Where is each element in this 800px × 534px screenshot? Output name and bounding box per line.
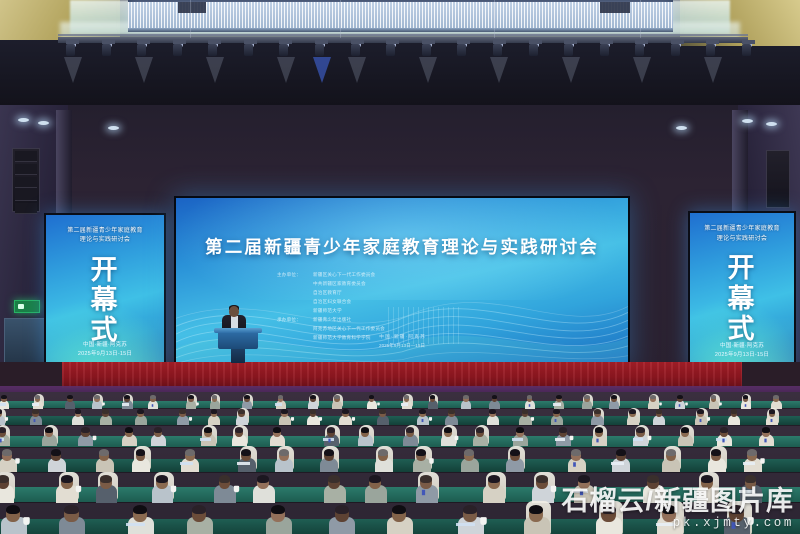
audience-hair [125, 427, 133, 433]
moving-head-light [279, 40, 292, 47]
audience-hair [611, 395, 617, 399]
audience-hair [241, 449, 251, 456]
audience-hair [769, 409, 776, 414]
audience-hair [378, 449, 388, 456]
audience-hair [279, 449, 289, 456]
audience-hair [102, 409, 109, 414]
name-badge [679, 404, 681, 407]
organizer-item: 中共新疆区家教育委员会 [313, 281, 366, 286]
audience-hair [595, 427, 603, 433]
audience-hair [616, 449, 626, 456]
water-cup [760, 458, 765, 463]
name-badge [329, 438, 331, 442]
water-cup [377, 402, 380, 405]
name-badge [555, 419, 557, 422]
audience-hair [594, 409, 601, 414]
organizer-item: 自治区妇女联合会 [313, 299, 351, 304]
document-paper [739, 490, 754, 493]
name-badge [722, 438, 724, 442]
side-banner-right: 第二届新疆青少年家庭教育 理论与实践研讨会 开 幕 式 中国·新疆·阿克苏 20… [688, 211, 796, 370]
audience-hair [211, 409, 218, 414]
name-badge [744, 404, 746, 407]
co-organizer-item: 新疆青少年出版社 [313, 317, 351, 322]
side-banner-right-footer: 中国·新疆·阿克苏 2025年9月13日-15日 [690, 342, 794, 361]
document-paper [633, 438, 644, 441]
audience-hair [697, 409, 704, 414]
audience-hair [522, 409, 529, 414]
audience-hair [75, 409, 82, 414]
audience-hair [99, 449, 109, 456]
name-badge [573, 462, 576, 467]
audience-hair [192, 505, 206, 515]
light-beam [419, 57, 437, 83]
audience-hair [244, 395, 250, 399]
light-beam [562, 57, 580, 83]
water-cup [707, 417, 710, 421]
moving-head-light [671, 40, 684, 47]
water-cup [719, 402, 722, 405]
moving-head-light [564, 40, 577, 47]
audience-hair [745, 475, 757, 483]
audience-hair [444, 427, 452, 433]
document-paper [456, 523, 474, 526]
audience-hair [32, 409, 39, 414]
chandelier-bottom-rail [128, 28, 673, 32]
audience-hair [647, 475, 659, 483]
audience-hair [61, 475, 73, 483]
moving-head-light [66, 40, 79, 47]
water-cup [15, 458, 20, 463]
audience-hair [179, 409, 186, 414]
water-cup [429, 458, 434, 463]
water-cup [5, 417, 8, 421]
audience-hair [154, 427, 162, 433]
document-paper [237, 462, 250, 465]
ceiling [0, 0, 800, 112]
name-badge [152, 404, 154, 407]
name-badge [580, 490, 583, 495]
audience-hair [489, 409, 496, 414]
name-badge [421, 419, 423, 422]
audience-hair [133, 505, 147, 515]
audience-hair [488, 475, 500, 483]
downlight [676, 126, 687, 130]
audience-hair [773, 395, 779, 399]
water-cup [648, 436, 652, 441]
moving-head-light [600, 40, 613, 47]
audience-hair [681, 427, 689, 433]
audience-hair [666, 449, 676, 456]
audience-hair [559, 427, 567, 433]
side-banner-left-footer: 中国·新疆·阿克苏 2025年9月13日-15日 [46, 341, 164, 360]
water-cup [570, 436, 574, 441]
audience-hair [0, 427, 6, 433]
audience-hair [137, 409, 144, 414]
audience-hair [406, 427, 414, 433]
document-paper [200, 438, 211, 441]
audience-hair [235, 427, 243, 433]
moving-head-light [742, 40, 755, 47]
audience-hair [150, 395, 156, 399]
side-banner-left-title: 第二届新疆青少年家庭教育 理论与实践研讨会 [46, 227, 164, 246]
moving-head-light [315, 40, 328, 47]
audience-hair [711, 449, 721, 456]
light-beam [348, 57, 366, 83]
audience-hair [701, 475, 713, 483]
audience-hair [416, 449, 426, 456]
downlight [38, 121, 49, 125]
audience-hair [281, 409, 288, 414]
audience-hair [556, 395, 562, 399]
audience-hair [584, 395, 590, 399]
water-cup [429, 417, 432, 421]
water-cup [685, 402, 688, 405]
audience-hair [219, 475, 231, 483]
audience-hair [328, 475, 340, 483]
moving-head-light [386, 40, 399, 47]
document-paper [656, 523, 674, 526]
audience-hair [720, 427, 728, 433]
audience-hair [656, 409, 663, 414]
water-cup [319, 417, 322, 421]
moving-head-light [422, 40, 435, 47]
water-cup [531, 417, 534, 421]
audience-hair [0, 475, 9, 483]
name-badge [422, 490, 425, 495]
water-cup [480, 517, 487, 525]
stage-floor-left [0, 362, 70, 388]
audience-hair [731, 409, 738, 414]
podium-desktop [214, 328, 262, 333]
document-paper [553, 403, 560, 406]
audience-hair [729, 505, 743, 515]
name-badge [770, 419, 772, 422]
document-paper [122, 403, 129, 406]
audience-hair [327, 427, 335, 433]
light-beam [206, 57, 224, 83]
light-beam [135, 57, 153, 83]
light-beam [704, 57, 722, 83]
name-badge [596, 438, 598, 442]
audience-hair [188, 395, 194, 399]
name-badge [699, 419, 701, 422]
audience-hair [601, 505, 615, 515]
audience-hair [629, 409, 636, 414]
water-cup [189, 417, 192, 421]
audience-hair [2, 449, 12, 456]
audience-hair [257, 475, 269, 483]
moving-head-light [137, 40, 150, 47]
light-beam [633, 57, 651, 83]
line-array-speaker-left [12, 148, 40, 212]
water-cup [197, 402, 200, 405]
podium [218, 331, 258, 349]
co-organizer-item: 阿克苏地区关心下一代工作委员会 [313, 326, 385, 331]
audience-hair [662, 505, 676, 515]
audience-hair [51, 449, 61, 456]
screen-title: 第二届新疆青少年家庭教育理论与实践研讨会 [176, 234, 628, 259]
audience-hair [94, 395, 100, 399]
audience-hair [747, 449, 757, 456]
light-beam [277, 57, 295, 83]
organizer-item: 自治区教育厅 [313, 290, 342, 295]
document-paper [555, 438, 566, 441]
organizer-label: 主办单位： [277, 271, 313, 280]
audience-hair [156, 475, 168, 483]
audience-hair [464, 449, 474, 456]
organizer-item: 新疆师范大学 [313, 308, 342, 313]
name-badge [529, 404, 531, 407]
audience-hair [463, 505, 477, 515]
audience-hair [334, 395, 340, 399]
audience-hair [100, 475, 112, 483]
side-banner-right-headline: 开 幕 式 [690, 253, 794, 344]
audience-hair [204, 427, 212, 433]
podium-stem [231, 349, 245, 363]
audience-hair [420, 475, 432, 483]
audience-hair [510, 449, 520, 456]
ceiling-panel-left [178, 2, 206, 13]
desk-row [0, 416, 800, 425]
audience-hair [516, 427, 524, 433]
moving-head-light [244, 40, 257, 47]
water-cup [171, 485, 176, 491]
moving-head-light [102, 40, 115, 47]
audience-hair [553, 409, 560, 414]
document-paper [275, 403, 282, 406]
water-cup [551, 485, 556, 491]
ceiling-panel-right [600, 2, 630, 13]
document-paper [0, 403, 6, 406]
document-paper [512, 438, 523, 441]
audience-hair [67, 395, 73, 399]
light-beam [313, 57, 331, 83]
document-paper [401, 403, 408, 406]
audience-hair [448, 409, 455, 414]
stage-skirt [62, 362, 742, 388]
name-badge [764, 438, 766, 442]
desk-row [0, 487, 800, 502]
audience-hair [271, 505, 285, 515]
audience-hair [536, 475, 548, 483]
co-organizer-label: 承办单位： [277, 316, 313, 325]
audience-hair [342, 409, 349, 414]
line-array-speaker-right [766, 150, 790, 208]
name-badge [732, 522, 736, 529]
exit-sign-icon [14, 300, 40, 313]
audience-hair [335, 505, 349, 515]
water-cup [352, 417, 355, 421]
document-paper [611, 462, 624, 465]
downlight [742, 119, 753, 123]
audience-hair [273, 427, 281, 433]
audience-hair [238, 409, 245, 414]
water-cup [659, 402, 662, 405]
audience-hair [392, 505, 406, 515]
moving-head-light [208, 40, 221, 47]
water-cup [76, 485, 81, 491]
downlight [18, 118, 29, 122]
audience-hair [310, 409, 317, 414]
audience-hair [45, 427, 53, 433]
conference-hall-photo: 第二届新疆青少年家庭教育 理论与实践研讨会 开 幕 式 中国·新疆·阿克苏 20… [0, 0, 800, 534]
crystal-chandelier [128, 2, 673, 30]
downlight [108, 126, 119, 130]
moving-head-light [457, 40, 470, 47]
moving-head-light [635, 40, 648, 47]
audience-hair [529, 505, 543, 515]
water-cup [234, 485, 239, 491]
audience-hair [361, 427, 369, 433]
document-paper [180, 462, 193, 465]
light-beam [490, 57, 508, 83]
audience-hair [636, 427, 644, 433]
moving-head-light [529, 40, 542, 47]
audience-hair [419, 409, 426, 414]
water-cup [24, 517, 31, 525]
organizer-item: 新疆区关心下一代工作委员会 [313, 272, 375, 277]
downlight [766, 122, 777, 126]
side-banner-right-title: 第二届新疆青少年家庭教育 理论与实践研讨会 [690, 225, 794, 244]
water-cup [93, 436, 97, 441]
name-badge [0, 438, 2, 442]
audience-hair [136, 449, 146, 456]
audience-hair [762, 427, 770, 433]
document-paper [743, 462, 756, 465]
water-cup [747, 517, 754, 525]
moving-head-light [173, 40, 186, 47]
side-banner-left-headline: 开 幕 式 [46, 255, 164, 346]
audience-hair [324, 449, 334, 456]
audience-hair [571, 449, 581, 456]
audience-hair [379, 409, 386, 414]
audience-hair [64, 505, 78, 515]
audience-hair [310, 395, 316, 399]
audience-hair [369, 475, 381, 483]
audience-hair [1, 395, 7, 399]
light-beam [64, 57, 82, 83]
moving-head-light [706, 40, 719, 47]
moving-head-light [493, 40, 506, 47]
side-banner-left: 第二届新疆青少年家庭教育 理论与实践研讨会 开 幕 式 中国·新疆·阿克苏 20… [44, 213, 166, 369]
audience-hair [463, 395, 469, 399]
stage-floor-right [738, 362, 800, 388]
audience-hair [578, 475, 590, 483]
document-paper [126, 523, 144, 526]
moving-head-light [351, 40, 364, 47]
water-cup [291, 417, 294, 421]
audience-hair [81, 427, 89, 433]
audience-hair [677, 395, 683, 399]
document-paper [32, 403, 39, 406]
audience-hair [476, 427, 484, 433]
audience-hair [6, 505, 20, 515]
audience-hair [185, 449, 195, 456]
